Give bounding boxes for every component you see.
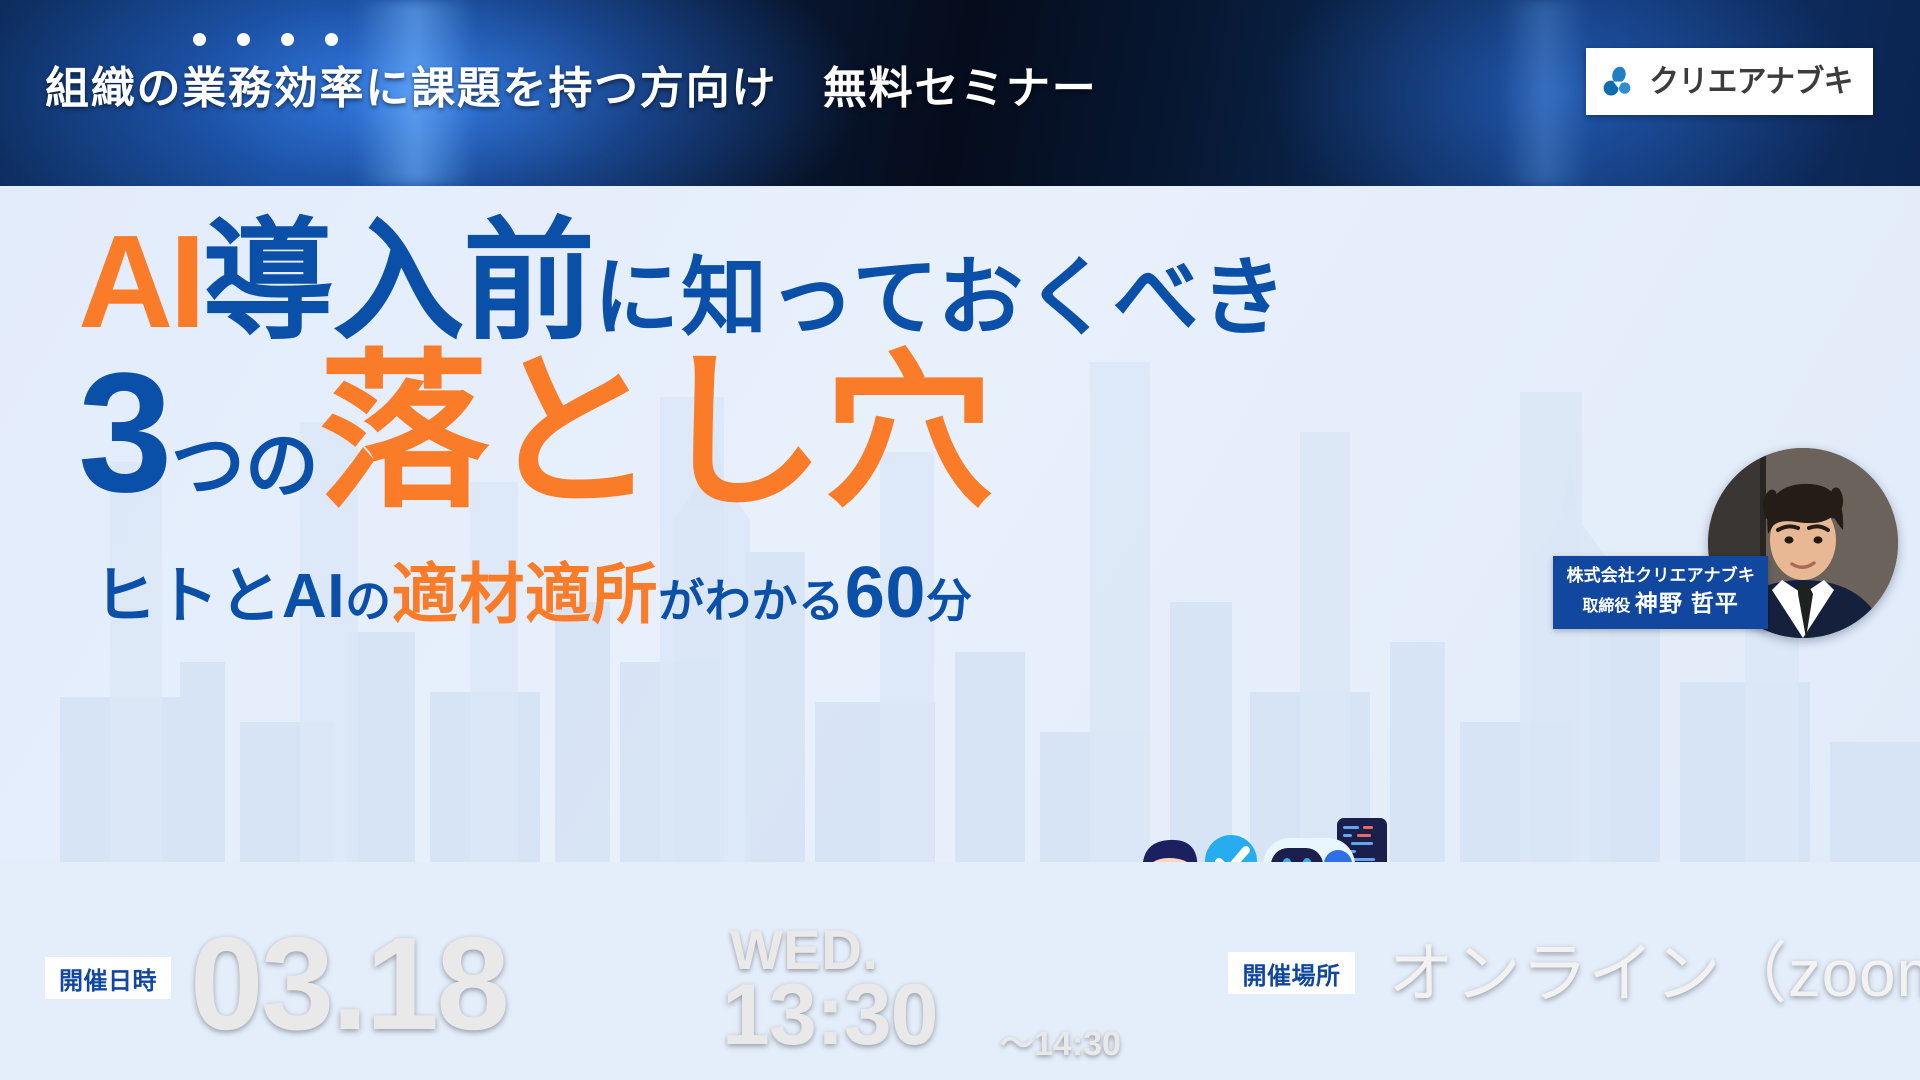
date-badge: 開催日時 — [45, 957, 171, 999]
title-dounyumae: 導入前 — [202, 208, 593, 355]
company-logo[interactable]: クリエアナブキ — [1586, 48, 1873, 115]
subtitle-p3: の — [345, 575, 392, 627]
header-light-streak-secondary — [1500, 0, 1590, 186]
title-tsuno: つの — [171, 424, 319, 507]
emphasis-dot — [325, 33, 338, 46]
title-number-3: 3 — [78, 338, 171, 528]
place-badge: 開催場所 — [1228, 952, 1355, 994]
event-date: 03.18 — [190, 918, 507, 1050]
subtitle-minutes: 60 — [845, 553, 926, 633]
title-pitfall: 落とし穴 — [319, 338, 992, 528]
emphasis-dot — [237, 33, 250, 46]
speaker-name: 神野 哲平 — [1635, 590, 1739, 616]
emphasis-dots — [193, 33, 338, 46]
title-ai: AI — [78, 208, 202, 355]
seminar-banner: 組織の業務効率に課題を持つ方向け 無料セミナー クリエアナブキ — [0, 0, 1920, 1080]
subtitle-minutes-unit: 分 — [926, 575, 973, 627]
event-time-end: 〜14:30 — [1000, 1027, 1121, 1061]
header-bar: 組織の業務効率に課題を持つ方向け 無料セミナー クリエアナブキ — [0, 0, 1920, 186]
header-kicker: 組織の業務効率に課題を持つ方向け 無料セミナー — [45, 52, 1195, 116]
emphasis-dot — [281, 33, 294, 46]
event-place: オンライン（zoom） — [1388, 934, 1920, 1013]
subtitle-ai: AI — [282, 562, 345, 631]
subtitle-p1: ヒトと — [94, 562, 282, 631]
event-time-start: 13:30 — [722, 972, 938, 1058]
speaker-title: 取締役 — [1582, 598, 1630, 615]
molecule-icon — [1601, 64, 1636, 99]
handshake-human-robot-illustration — [1085, 798, 1425, 862]
speaker-company: 株式会社クリエアナブキ — [1566, 565, 1755, 586]
emphasis-dot — [193, 33, 206, 46]
speaker-name-row: 取締役 神野 哲平 — [1566, 588, 1755, 619]
company-logo-text: クリエアナブキ — [1650, 66, 1854, 97]
main-title-block: AI導入前に知っておくべき 3つの落とし穴 ヒトとAIの適材適所がわかる60分 — [78, 216, 1398, 637]
title-line-1: AI導入前に知っておくべき — [78, 216, 1398, 348]
footer-bar: 開催日時 03.18 WED. 13:30 〜14:30 開催場所 オンライン（… — [0, 862, 1920, 1080]
speaker-nameplate: 株式会社クリエアナブキ 取締役 神野 哲平 — [1553, 556, 1768, 629]
title-line-2: 3つの落とし穴 — [78, 352, 1398, 515]
subtitle-line: ヒトとAIの適材適所がわかる60分 — [94, 541, 1398, 637]
main-area: AI導入前に知っておくべき 3つの落とし穴 ヒトとAIの適材適所がわかる60分 — [0, 186, 1920, 862]
title-line1-tail: に知っておくべき — [593, 250, 1288, 346]
subtitle-highlight: 適材適所 — [392, 557, 658, 631]
subtitle-p5: がわかる — [658, 575, 844, 627]
